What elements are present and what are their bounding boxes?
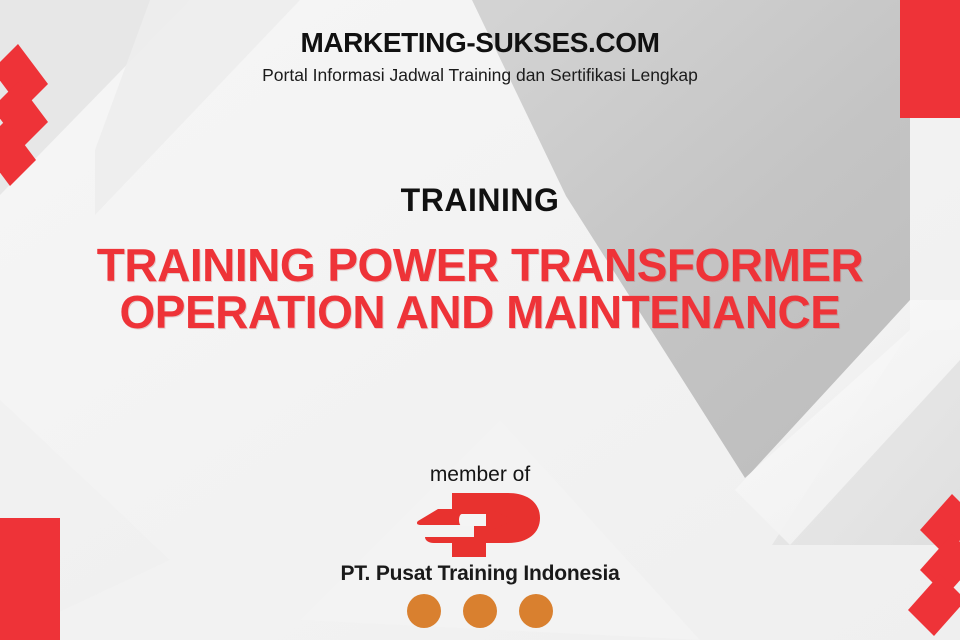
training-banner: MARKETING-SUKSES.COM Portal Informasi Ja…	[0, 0, 960, 640]
course-title: TRAINING POWER TRANSFORMER OPERATION AND…	[60, 242, 900, 336]
banner-content: MARKETING-SUKSES.COM Portal Informasi Ja…	[0, 0, 960, 640]
stylized-p-arrow-logo-icon	[416, 492, 544, 558]
partner-logo	[0, 492, 960, 558]
member-of-label: member of	[0, 463, 960, 487]
company-name: PT. Pusat Training Indonesia	[0, 562, 960, 586]
dot-2	[463, 594, 497, 628]
header: MARKETING-SUKSES.COM Portal Informasi Ja…	[0, 28, 960, 86]
kicker-label: TRAINING	[0, 182, 960, 219]
dot-1	[407, 594, 441, 628]
site-tagline: Portal Informasi Jadwal Training dan Ser…	[0, 65, 960, 86]
dot-3	[519, 594, 553, 628]
decor-dots	[0, 594, 960, 628]
site-name: MARKETING-SUKSES.COM	[0, 28, 960, 59]
